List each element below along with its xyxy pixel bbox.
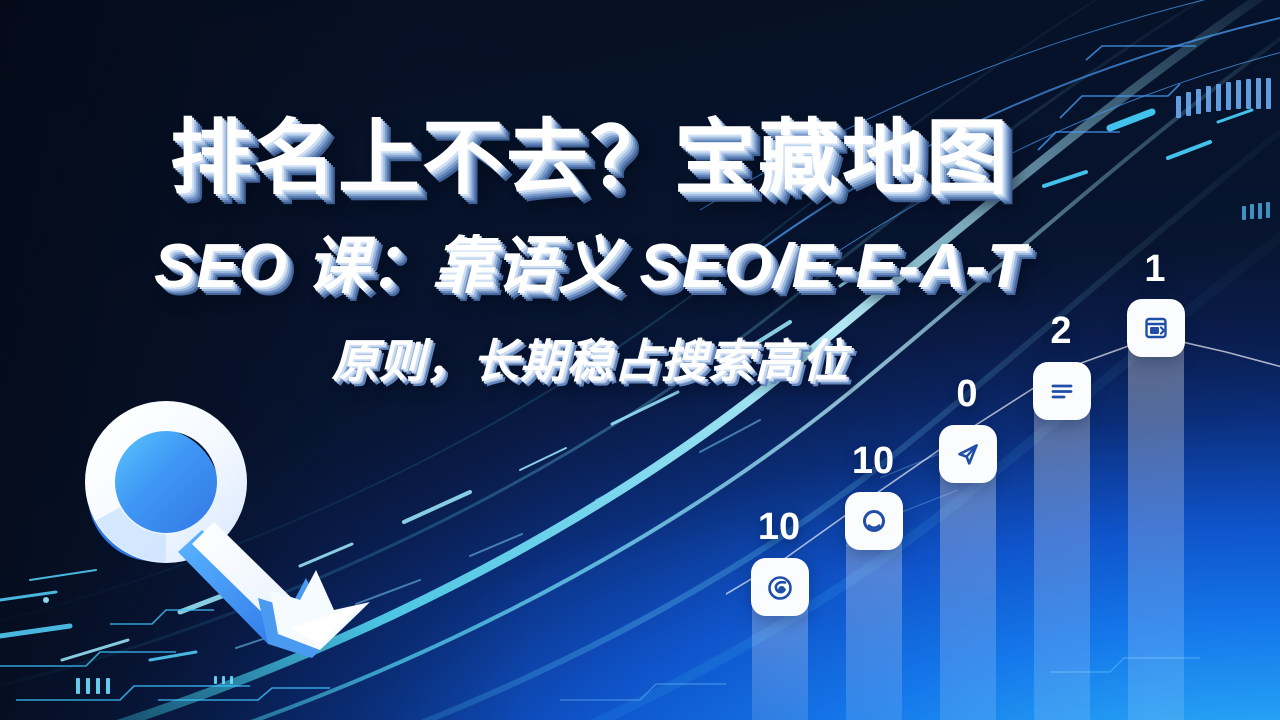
bar-label: 10 [843,440,903,483]
icon-card-ring[interactable] [845,492,903,550]
paper-plane-icon [952,438,984,470]
seo-course-poster: 排名上不去？宝藏地图 SEO 课：靠语义 SEO/E-E-A-T 原则，长期稳占… [0,0,1280,720]
icon-card-send[interactable] [939,425,997,483]
ring-circle-icon [858,505,890,537]
bar-label: 0 [937,373,997,416]
bar-label: 1 [1125,248,1185,291]
bar-label: 2 [1031,310,1091,353]
chart-bar [1034,370,1090,720]
icon-card-document[interactable] [1127,299,1185,357]
magnifier-arrow-icon [62,382,402,682]
spiral-swirl-icon [764,571,796,603]
ranking-bar-chart: 10 10 0 [726,300,1280,720]
document-edit-icon [1140,312,1172,344]
icon-card-list[interactable] [1033,362,1091,420]
trend-connector-line [726,300,1280,720]
icon-card-spiral[interactable] [751,558,809,616]
list-lines-icon [1046,375,1078,407]
bar-label: 10 [749,506,809,549]
chart-bar [1128,308,1184,720]
